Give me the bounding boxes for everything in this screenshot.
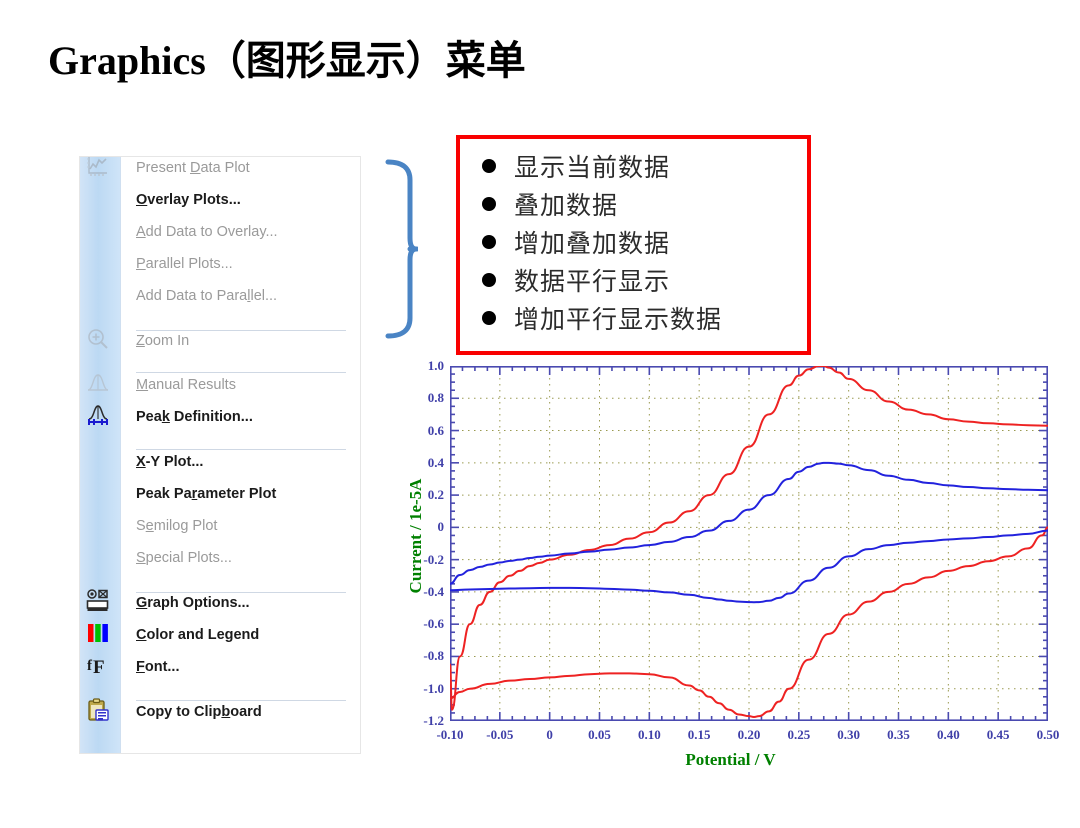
callout-list-item: 数据平行显示 [482,261,807,299]
zoom-in-icon [86,327,114,355]
manual-results-icon [86,371,114,399]
menu-item-x-y-plot[interactable]: X-Y Plot... [120,446,360,478]
menu-item-label: Present Data Plot [120,160,250,176]
x-tick-label: -0.05 [475,727,525,743]
data-plot-icon [86,154,114,182]
menu-item-add-data-to-parallel: Add Data to Parallel... [120,280,360,312]
x-tick-label: 0.05 [575,727,625,743]
y-tick-label: -0.2 [398,552,444,568]
color-legend-icon [86,621,114,649]
callout-list-item: 增加平行显示数据 [482,299,807,337]
callout-item-text: 数据平行显示 [514,262,670,298]
menu-item-label: Peak Definition... [120,409,253,425]
y-tick-label: -0.4 [398,584,444,600]
y-tick-label: -0.8 [398,648,444,664]
menu-item-semilog-plot: Semilog Plot [120,510,360,542]
menu-item-present-data-plot: Present Data Plot [120,152,360,184]
menu-item-label: Color and Legend [120,627,259,643]
page-title: Graphics（图形显示）菜单 [48,28,526,86]
clipboard-icon [86,698,114,726]
menu-item-label: Graph Options... [120,595,250,611]
group-bracket [348,158,418,340]
x-tick-label: 0.50 [1023,727,1073,743]
menu-item-label: Parallel Plots... [120,256,233,272]
peak-definition-icon [86,403,114,431]
menu-separator [136,449,346,450]
menu-item-label: Font... [120,659,180,675]
menu-item-color-and-legend[interactable]: Color and Legend [120,619,360,651]
font-icon: f F [86,653,114,681]
bullet-icon [482,273,496,287]
x-tick-label: 0.15 [674,727,724,743]
x-tick-label: 0 [525,727,575,743]
menu-separator [136,700,346,701]
menu-item-peak-parameter-plot[interactable]: Peak Parameter Plot [120,478,360,510]
menu-separator [136,592,346,593]
x-tick-label: 0.45 [973,727,1023,743]
x-tick-label: 0.10 [624,727,674,743]
menu-item-label: Semilog Plot [120,518,217,534]
bullet-icon [482,159,496,173]
menu-item-label: Zoom In [120,333,189,349]
y-tick-label: 0.8 [398,390,444,406]
svg-text:F: F [93,657,105,677]
callout-box: 显示当前数据叠加数据增加叠加数据数据平行显示增加平行显示数据 [456,135,811,355]
y-tick-label: 0.2 [398,487,444,503]
plot-area [450,366,1048,721]
menu-item-label: X-Y Plot... [120,454,203,470]
y-tick-label: 0.4 [398,455,444,471]
menu-item-parallel-plots: Parallel Plots... [120,248,360,280]
callout-item-text: 叠加数据 [514,186,618,222]
menu-item-manual-results: Manual Results [120,369,360,401]
y-tick-label: -0.6 [398,616,444,632]
menu-item-overlay-plots[interactable]: Overlay Plots... [120,184,360,216]
x-tick-label: -0.10 [425,727,475,743]
y-tick-label: -1.0 [398,681,444,697]
graphics-menu-panel: Present Data PlotOverlay Plots...Add Dat… [80,157,360,753]
menu-item-label: Manual Results [120,377,236,393]
menu-item-font[interactable]: Font... [120,651,360,683]
menu-separator [136,372,346,373]
menu-item-label: Special Plots... [120,550,232,566]
y-tick-label: 0.6 [398,423,444,439]
y-tick-label: 0 [398,519,444,535]
x-tick-label: 0.25 [774,727,824,743]
x-tick-label: 0.40 [923,727,973,743]
menu-separator [136,330,346,331]
callout-item-text: 显示当前数据 [514,148,670,184]
x-tick-label: 0.35 [874,727,924,743]
bullet-icon [482,235,496,249]
menu-item-label: Overlay Plots... [120,192,241,208]
voltammogram-chart: Current / 1e-5A Potential / V 1.00.80.60… [398,358,1063,778]
menu-item-label: Peak Parameter Plot [120,486,276,502]
menu-item-special-plots: Special Plots... [120,542,360,574]
x-axis-label: Potential / V [398,750,1063,770]
menu-item-label: Add Data to Parallel... [120,288,277,304]
bullet-icon [482,311,496,325]
bullet-icon [482,197,496,211]
y-tick-label: 1.0 [398,358,444,374]
callout-list-item: 叠加数据 [482,185,807,223]
callout-list-item: 增加叠加数据 [482,223,807,261]
menu-item-peak-definition[interactable]: Peak Definition... [120,401,360,433]
x-tick-label: 0.30 [824,727,874,743]
callout-item-text: 增加叠加数据 [514,224,670,260]
x-tick-label: 0.20 [724,727,774,743]
menu-item-add-data-to-overlay: Add Data to Overlay... [120,216,360,248]
callout-list-item: 显示当前数据 [482,147,807,185]
callout-item-text: 增加平行显示数据 [514,300,722,336]
series-red-forward-anodic [450,366,1048,710]
menu-item-label: Copy to Clipboard [120,704,262,720]
menu-item-label: Add Data to Overlay... [120,224,278,240]
graph-options-icon [86,589,114,617]
